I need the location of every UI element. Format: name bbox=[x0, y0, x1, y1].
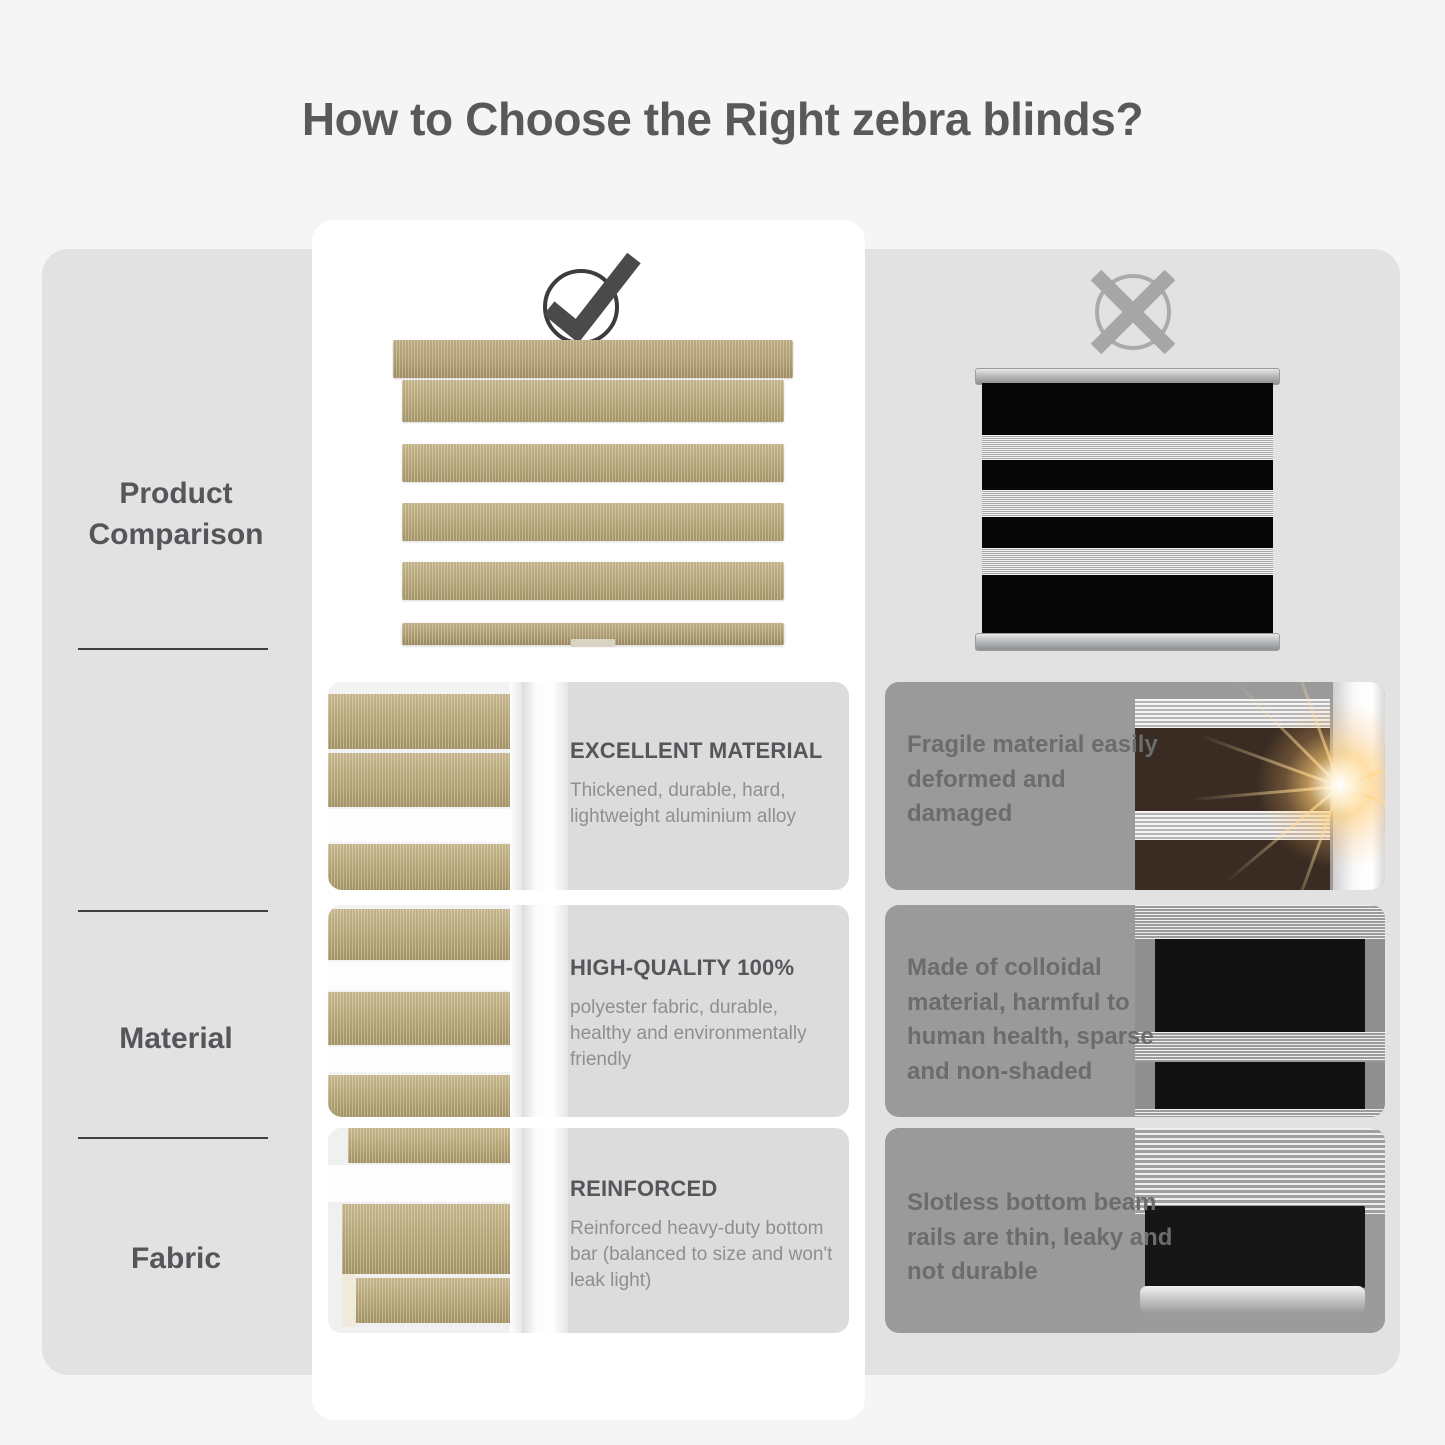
feature-card-fabric-good: HIGH-QUALITY 100% polyester fabric, dura… bbox=[328, 905, 849, 1117]
sidebar-divider bbox=[78, 1137, 268, 1139]
blind-headrail bbox=[393, 340, 793, 378]
blind-slat bbox=[402, 562, 784, 600]
sidebar-divider bbox=[78, 648, 268, 650]
feature-card-material-bad: Fragile material easily deformed and dam… bbox=[885, 682, 1385, 890]
blind-fabric-body bbox=[982, 383, 1273, 635]
sidebar-item-product-comparison: Product Comparison bbox=[42, 424, 310, 604]
feature-title: HIGH-QUALITY 100% bbox=[570, 955, 835, 981]
feature-card-material-good: EXCELLENT MATERIAL Thickened, durable, h… bbox=[328, 682, 849, 890]
sidebar-item-fabric: Fabric bbox=[42, 1174, 310, 1344]
blind-bottom-rail bbox=[975, 633, 1280, 651]
light-leak-glow bbox=[1255, 700, 1385, 870]
blind-mesh-stripe bbox=[982, 548, 1273, 575]
category-sidebar: Product Comparison Material Fabric Botto… bbox=[42, 249, 310, 1375]
drawback-text: Fragile material easily deformed and dam… bbox=[907, 728, 1177, 832]
drawback-text: Made of colloidal material, harmful to h… bbox=[907, 951, 1177, 1089]
sidebar-item-bottom-beam: Bottom Beam bbox=[42, 1384, 310, 1445]
feature-title: REINFORCED bbox=[570, 1176, 835, 1202]
infographic-page: How to Choose the Right zebra blinds? Pr… bbox=[0, 0, 1445, 1445]
check-circle-icon bbox=[533, 252, 643, 352]
hero-image-beige-blind bbox=[393, 340, 793, 665]
feature-photo-bottom-beam-good bbox=[328, 1128, 568, 1333]
blind-mesh-stripe bbox=[982, 435, 1273, 460]
feature-photo-material-good bbox=[328, 682, 568, 890]
page-title: How to Choose the Right zebra blinds? bbox=[0, 92, 1445, 146]
feature-card-bottom-beam-good: REINFORCED Reinforced heavy-duty bottom … bbox=[328, 1128, 849, 1333]
feature-photo-fabric-good bbox=[328, 905, 568, 1117]
hero-image-black-blind bbox=[975, 368, 1280, 650]
feature-body: Thickened, durable, hard, lightweight al… bbox=[570, 778, 835, 830]
sidebar-item-material: Material bbox=[42, 949, 310, 1129]
blind-mesh-stripe bbox=[982, 490, 1273, 517]
feature-card-bottom-beam-bad: Slotless bottom beam rails are thin, lea… bbox=[885, 1128, 1385, 1333]
cross-circle-icon bbox=[1078, 262, 1188, 362]
blind-pull-tab bbox=[571, 639, 615, 647]
drawback-text: Slotless bottom beam rails are thin, lea… bbox=[907, 1186, 1177, 1290]
sidebar-divider bbox=[78, 910, 268, 912]
feature-body: polyester fabric, durable, healthy and e… bbox=[570, 995, 835, 1074]
blind-slat bbox=[402, 444, 784, 482]
blind-slat bbox=[402, 380, 784, 422]
blind-slat bbox=[402, 503, 784, 541]
feature-title: EXCELLENT MATERIAL bbox=[570, 738, 835, 764]
feature-body: Reinforced heavy-duty bottom bar (balanc… bbox=[570, 1216, 835, 1295]
feature-card-fabric-bad: Made of colloidal material, harmful to h… bbox=[885, 905, 1385, 1117]
